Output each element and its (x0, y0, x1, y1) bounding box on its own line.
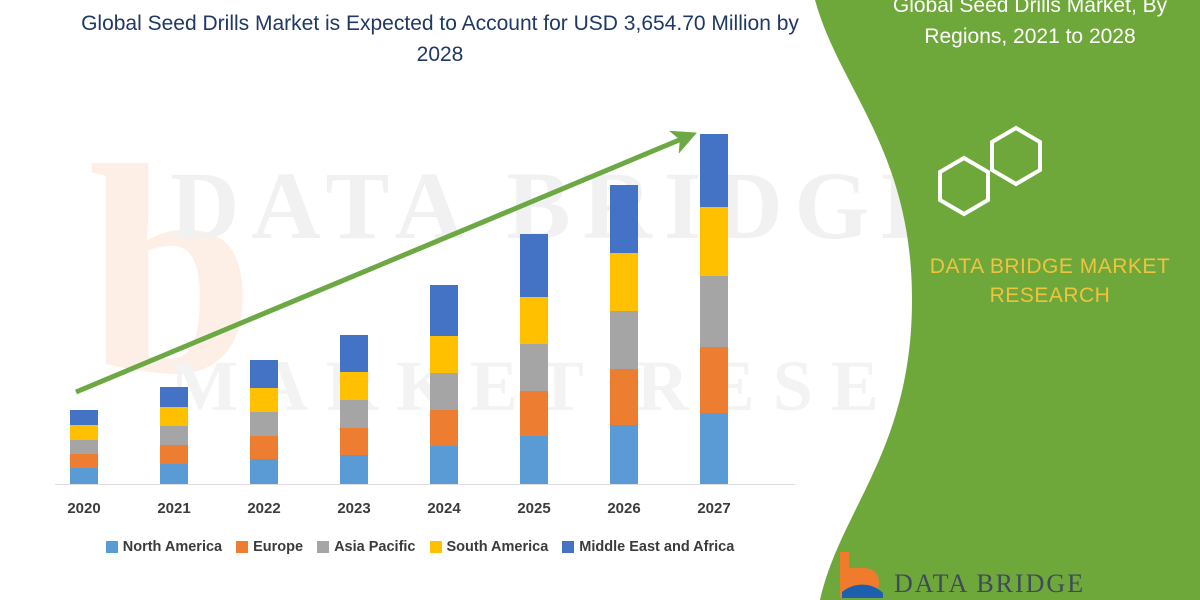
x-axis-label-2023: 2023 (324, 500, 384, 517)
legend-label: Asia Pacific (334, 539, 415, 555)
bar-segment (610, 311, 638, 369)
chart-title: Global Seed Drills Market is Expected to… (60, 8, 820, 70)
panel-brand-line-2: RESEARCH (900, 281, 1200, 310)
legend-swatch-icon (236, 541, 248, 553)
x-axis-label-2025: 2025 (504, 500, 564, 517)
x-axis-label-2026: 2026 (594, 500, 654, 517)
bar-segment (250, 388, 278, 412)
bar-2025[interactable] (520, 234, 548, 484)
bar-segment (250, 412, 278, 436)
legend-swatch-icon (430, 541, 442, 553)
bar-segment (70, 440, 98, 454)
bar-segment (70, 468, 98, 484)
bar-segment (610, 369, 638, 425)
x-axis-label-2022: 2022 (234, 500, 294, 517)
bar-segment (160, 387, 188, 407)
panel-title: Global Seed Drills Market, By Regions, 2… (870, 0, 1190, 52)
legend-swatch-icon (106, 541, 118, 553)
bar-segment (340, 335, 368, 372)
legend-item-north-america[interactable]: North America (106, 539, 222, 555)
bar-2027[interactable] (700, 134, 728, 484)
bar-segment (250, 459, 278, 484)
bar-2021[interactable] (160, 387, 188, 484)
legend-item-europe[interactable]: Europe (236, 539, 303, 555)
bar-segment (70, 425, 98, 440)
legend-label: Europe (253, 539, 303, 555)
bar-2022[interactable] (250, 360, 278, 484)
bar-segment (430, 373, 458, 410)
legend-swatch-icon (562, 541, 574, 553)
bar-segment (340, 428, 368, 455)
bar-segment (610, 425, 638, 484)
chart-plot-area: 20202021202220232024202520262027 (0, 0, 820, 600)
legend-swatch-icon (317, 541, 329, 553)
bar-segment (520, 344, 548, 391)
x-axis-label-2021: 2021 (144, 500, 204, 517)
bar-2023[interactable] (340, 335, 368, 484)
bar-segment (610, 253, 638, 311)
legend-label: South America (447, 539, 549, 555)
bar-segment (520, 391, 548, 436)
bar-segment (520, 436, 548, 484)
bar-segment (160, 445, 188, 464)
bar-segment (160, 407, 188, 426)
chart-legend: North AmericaEuropeAsia PacificSouth Ame… (40, 539, 800, 555)
bar-2026[interactable] (610, 185, 638, 484)
x-axis-label-2024: 2024 (414, 500, 474, 517)
bar-2024[interactable] (430, 285, 458, 484)
bar-segment (430, 336, 458, 373)
bar-segment (430, 410, 458, 446)
x-axis-label-2020: 2020 (54, 500, 114, 517)
x-axis-label-2027: 2027 (684, 500, 744, 517)
bar-segment (700, 413, 728, 484)
hexagon-pair-icon (930, 100, 1130, 230)
x-axis-line (55, 484, 795, 485)
legend-label: Middle East and Africa (579, 539, 734, 555)
legend-item-asia-pacific[interactable]: Asia Pacific (317, 539, 415, 555)
bar-segment (250, 436, 278, 459)
legend-item-south-america[interactable]: South America (430, 539, 549, 555)
bar-segment (160, 464, 188, 484)
bar-segment (250, 360, 278, 388)
bar-segment (520, 297, 548, 344)
legend-label: North America (123, 539, 222, 555)
bar-segment (160, 426, 188, 445)
bar-segment (700, 347, 728, 413)
bar-segment (610, 185, 638, 253)
legend-item-middle-east-and-africa[interactable]: Middle East and Africa (562, 539, 734, 555)
bar-segment (700, 276, 728, 347)
panel-brand-line-1: DATA BRIDGE MARKET (900, 252, 1200, 281)
bar-segment (430, 446, 458, 484)
bar-segment (340, 400, 368, 428)
bar-segment (700, 207, 728, 276)
bar-segment (70, 410, 98, 425)
infographic-root: b DATA BRIDGE MARKET RESEARCH Global See… (0, 0, 1200, 600)
bar-segment (700, 134, 728, 207)
bar-2020[interactable] (70, 410, 98, 484)
bar-segment (340, 372, 368, 400)
bar-segment (340, 455, 368, 484)
panel-brand-text: DATA BRIDGE MARKET RESEARCH (900, 252, 1200, 310)
logo-text: DATA BRIDGE (894, 570, 1085, 598)
bar-segment (430, 285, 458, 336)
bar-segment (520, 234, 548, 297)
logo-b-mark-icon (838, 552, 884, 598)
bar-segment (70, 454, 98, 468)
dbmr-logo: DATA BRIDGE (838, 552, 1085, 598)
